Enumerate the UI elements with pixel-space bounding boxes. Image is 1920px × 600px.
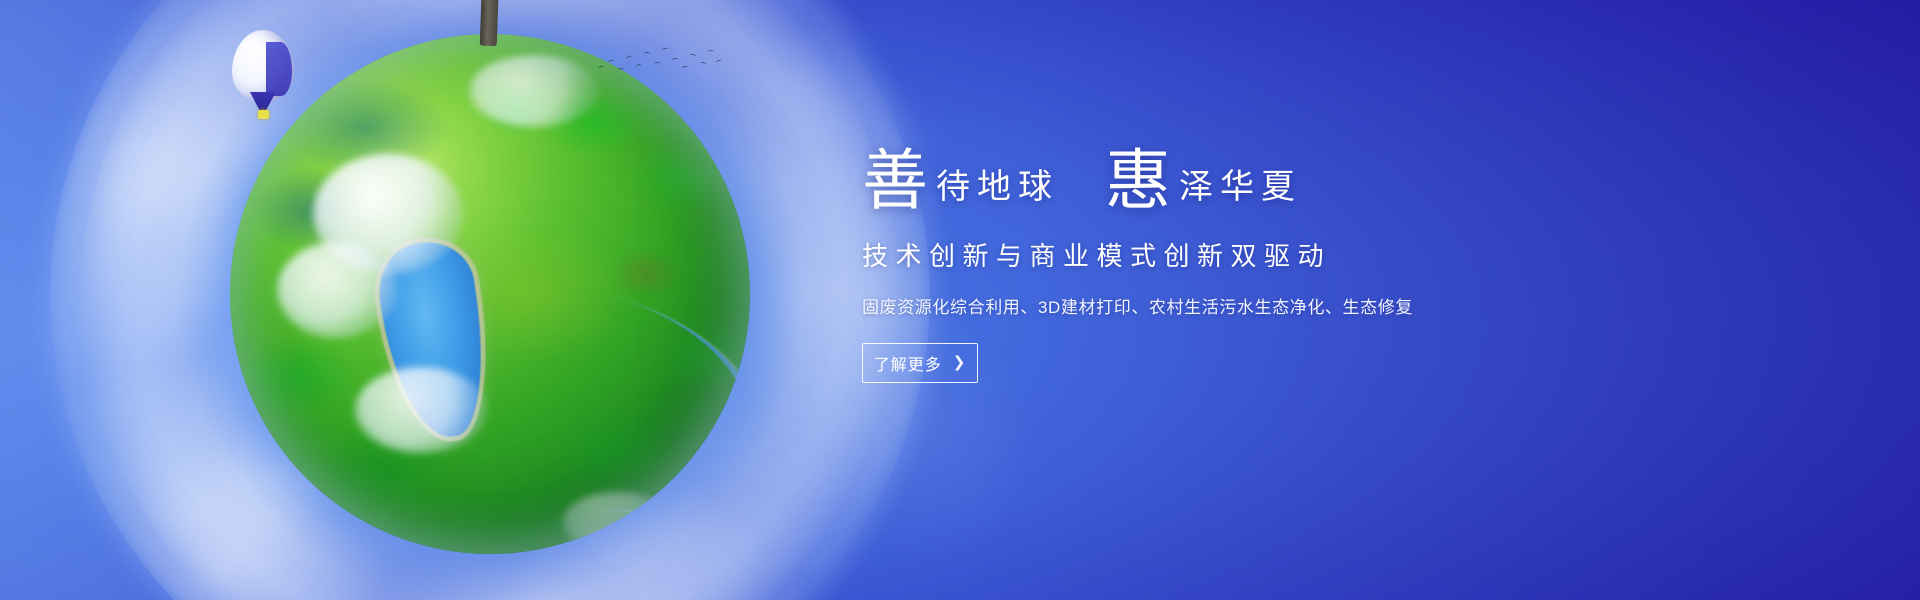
learn-more-label: 了解更多: [874, 351, 942, 375]
page-description: 固废资源化综合利用、3D建材打印、农村生活污水生态净化、生态修复: [862, 293, 1622, 318]
headline-big-char-2: 惠: [1105, 149, 1171, 212]
chevron-right-icon: ❯: [953, 355, 967, 370]
headline-small-text-1: 待地球: [936, 170, 1059, 212]
page-subtitle: 技术创新与商业模式创新双驱动: [862, 236, 1622, 273]
hero-banner: 善 待地球 惠 泽华夏 技术创新与商业模式创新双驱动 固废资源化综合利用、3D建…: [0, 0, 1920, 600]
headline-small-text-2: 泽华夏: [1179, 170, 1302, 212]
headline-group-2: 惠 泽华夏: [1105, 149, 1302, 212]
hero-copy: 善 待地球 惠 泽华夏 技术创新与商业模式创新双驱动 固废资源化综合利用、3D建…: [862, 132, 1622, 383]
headline-group-1: 善 待地球: [862, 149, 1059, 212]
headline-big-char-1: 善: [862, 149, 928, 212]
page-title: 善 待地球 惠 泽华夏: [862, 132, 1622, 212]
learn-more-button[interactable]: 了解更多 ❯: [862, 343, 978, 383]
